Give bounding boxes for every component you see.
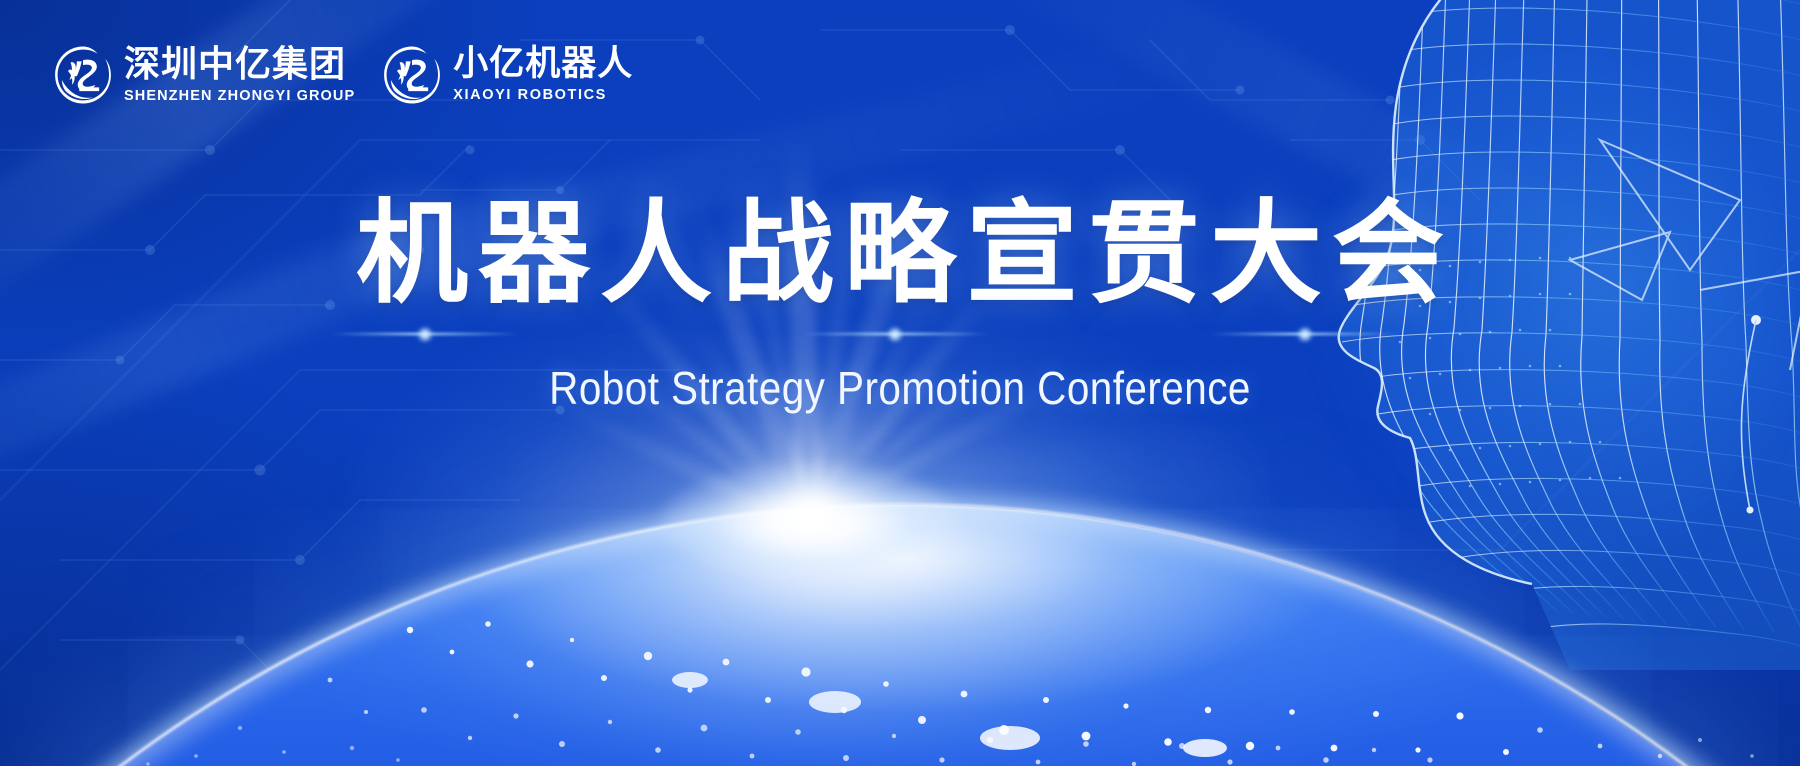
page-title: 机器人战略宣贯大会 bbox=[0, 192, 1800, 317]
logo-xiaoyi-chinese: 小亿机器人 bbox=[453, 47, 633, 82]
logo-xiaoyi[interactable]: 小亿机器人 XIAOYI ROBOTICS bbox=[381, 44, 633, 106]
conference-banner: 深圳中亿集团 SHENZHEN ZHONGYI GROUP 小亿机器人 XIAO… bbox=[0, 0, 1800, 766]
light-flare-right-icon bbox=[1210, 333, 1400, 336]
zhongyi-circular-logo-icon bbox=[52, 44, 114, 106]
light-flare-left-icon bbox=[330, 333, 520, 336]
logo-row: 深圳中亿集团 SHENZHEN ZHONGYI GROUP 小亿机器人 XIAO… bbox=[52, 44, 633, 106]
logo-zhongyi[interactable]: 深圳中亿集团 SHENZHEN ZHONGYI GROUP bbox=[52, 44, 355, 106]
page-subtitle: Robot Strategy Promotion Conference bbox=[108, 361, 1692, 415]
logo-zhongyi-chinese: 深圳中亿集团 bbox=[124, 47, 355, 83]
logo-xiaoyi-english: XIAOYI ROBOTICS bbox=[453, 88, 633, 103]
title-block: 机器人战略宣贯大会 Robot Strategy Promotion Confe… bbox=[0, 192, 1800, 415]
light-flare-center-icon bbox=[800, 333, 990, 336]
logo-zhongyi-english: SHENZHEN ZHONGYI GROUP bbox=[124, 89, 355, 104]
title-flare-row bbox=[0, 321, 1800, 347]
xiaoyi-circular-logo-icon bbox=[381, 44, 443, 106]
